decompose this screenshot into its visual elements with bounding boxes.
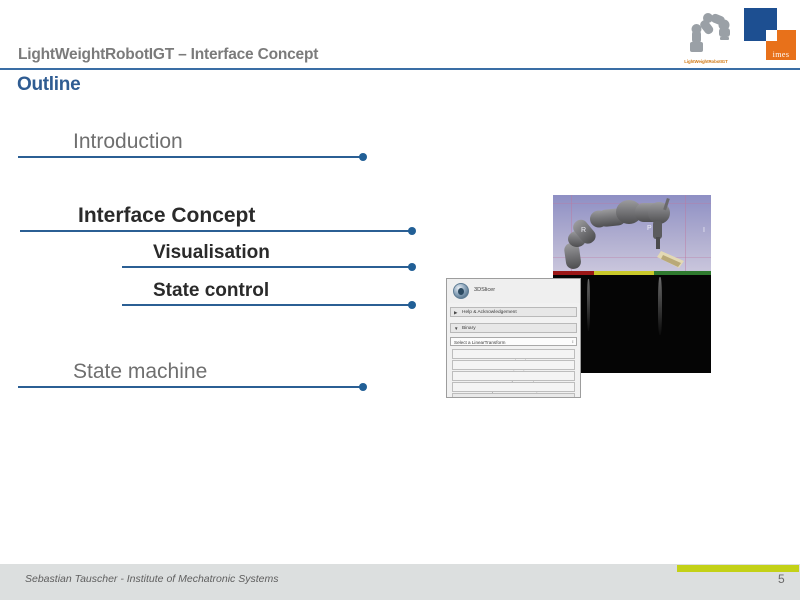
footer-author: Sebastian Tauscher - Institute of Mechat… bbox=[25, 573, 278, 585]
outline-item-rule bbox=[122, 304, 412, 306]
robot-axis-label-p: P bbox=[647, 225, 652, 232]
slicer-section-label: Binary bbox=[462, 326, 476, 331]
dark-streak bbox=[658, 277, 662, 335]
slicer-section-label: Help & Acknowledgement bbox=[462, 310, 517, 315]
robot-arm-icon bbox=[678, 6, 734, 56]
page-number: 5 bbox=[778, 572, 785, 586]
slicer-button-sensor-transform[interactable]: Sensor Transform to Robot... bbox=[452, 371, 575, 381]
outline-item-rule bbox=[20, 230, 412, 232]
robot-axis-label-i: I bbox=[703, 227, 705, 234]
outline-item-label: Visualisation bbox=[153, 242, 270, 264]
chevron-right-icon: ▶ bbox=[454, 311, 457, 315]
outline-item-label: State control bbox=[153, 280, 269, 302]
outline-item-dot bbox=[408, 263, 416, 271]
slicer-button-request-registration-data[interactable]: Request Registration Data bbox=[452, 360, 575, 370]
robot-axis-label-r: R bbox=[581, 227, 586, 234]
slide-subtitle: Outline bbox=[17, 74, 80, 96]
slicer-dropdown-value: Select a LinearTransform bbox=[454, 340, 505, 345]
outline-item-rule bbox=[122, 266, 412, 268]
outline-item-rule bbox=[18, 156, 363, 158]
outline-item-visualisation[interactable]: Visualisation bbox=[122, 240, 417, 268]
outline-item-introduction[interactable]: Introduction bbox=[18, 128, 363, 158]
imes-white-notch bbox=[766, 30, 777, 41]
outline-item-interface-concept[interactable]: Interface Concept bbox=[20, 202, 415, 232]
slicer-logo-core bbox=[458, 288, 464, 295]
outline-item-state-control[interactable]: State control bbox=[122, 278, 417, 306]
outline-item-dot bbox=[359, 383, 367, 391]
slide-root: LightWeightRobotIGT – Interface Concept … bbox=[0, 0, 800, 600]
outline-item-label: Introduction bbox=[73, 130, 183, 154]
robot-arm-render bbox=[553, 195, 711, 275]
outline-item-label: Interface Concept bbox=[78, 204, 255, 228]
slicer-button-start-registration[interactable]: Start Registration bbox=[452, 349, 575, 359]
imes-logo: imes bbox=[744, 8, 796, 60]
lwr-logo-caption: LightWeightRobotIGT bbox=[678, 59, 734, 64]
dark-streak bbox=[587, 279, 590, 331]
outline-item-dot bbox=[408, 227, 416, 235]
outline-item-dot bbox=[408, 301, 416, 309]
slicer-button-zero-compensation[interactable]: Perform Zero Compensation bbox=[452, 382, 575, 392]
slicer-button-activate-connection[interactable]: activate LargeHD Sync Connection bbox=[452, 393, 575, 398]
lightweightrobotigt-logo: LightWeightRobotIGT bbox=[678, 6, 734, 64]
outline-item-state-machine[interactable]: State machine bbox=[18, 358, 363, 388]
slicer-header: 3DSlicer bbox=[447, 279, 580, 303]
slicer-transform-dropdown[interactable]: Select a LinearTransform ↕ bbox=[450, 337, 577, 346]
slicer-app-name: 3DSlicer bbox=[474, 287, 495, 293]
chevron-down-icon: ▼ bbox=[454, 327, 458, 331]
footer-accent-bar bbox=[677, 565, 799, 572]
outline-item-label: State machine bbox=[73, 360, 207, 384]
imes-wordmark: imes bbox=[766, 50, 796, 59]
header-divider bbox=[0, 68, 800, 70]
slicer-section-help[interactable]: ▶ Help & Acknowledgement bbox=[450, 307, 577, 317]
outline-item-dot bbox=[359, 153, 367, 161]
slicer-section-binary[interactable]: ▼ Binary bbox=[450, 323, 577, 333]
chevron-updown-icon: ↕ bbox=[572, 339, 574, 345]
page-title: LightWeightRobotIGT – Interface Concept bbox=[18, 46, 318, 64]
slicer-logo-icon bbox=[453, 283, 469, 299]
outline-item-rule bbox=[18, 386, 363, 388]
slicer-panel-screenshot: 3DSlicer ▶ Help & Acknowledgement ▼ Bina… bbox=[446, 278, 581, 398]
